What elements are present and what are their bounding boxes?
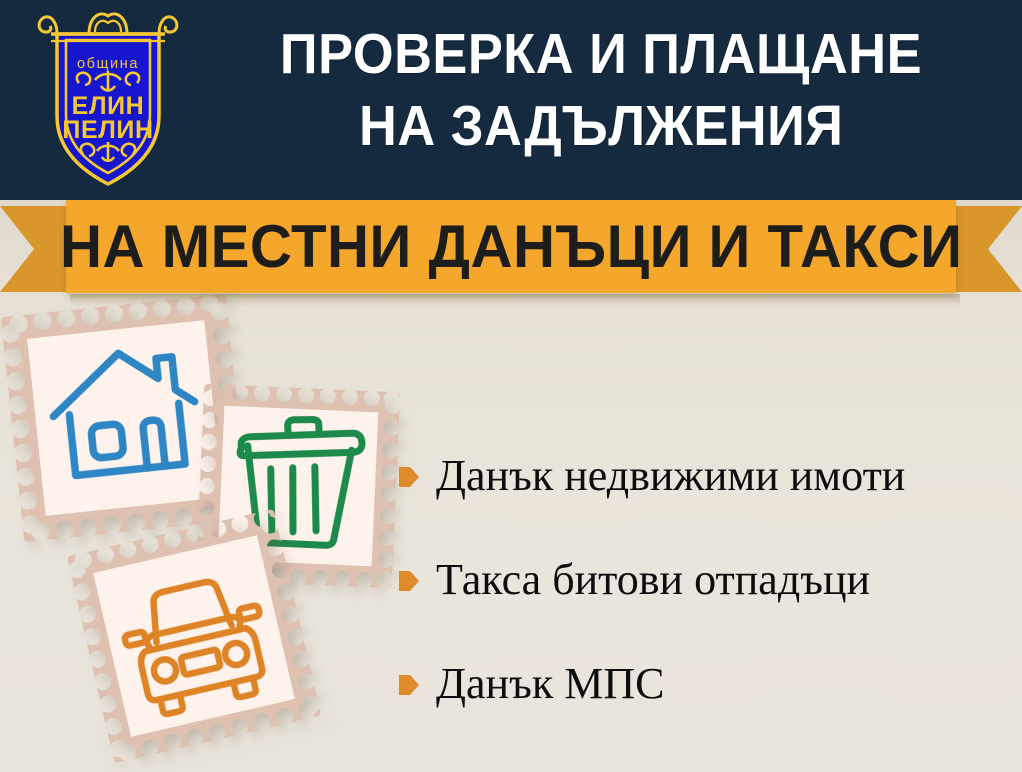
crest-line-small: община [77,56,139,72]
arrow-bullet-icon [398,464,420,490]
page-title-line-2: НА ЗАДЪЛЖЕНИЯ [359,90,843,162]
page-title-line-1: ПРОВЕРКА И ПЛАЩАНЕ [280,18,922,90]
subtitle-ribbon: НА МЕСТНИ ДАНЪЦИ И ТАКСИ [0,198,1022,310]
ribbon-band: НА МЕСТНИ ДАНЪЦИ И ТАКСИ [66,200,956,293]
list-item[interactable]: Данък МПС [398,632,1012,736]
poster-canvas: община ЕЛИН ПЕЛИН ПРОВЕРКА И П [0,0,1022,772]
ribbon-drop-shadow [70,294,960,306]
list-item[interactable]: Данък недвижими имоти [398,424,1012,528]
list-item-label: Данък МПС [436,659,664,709]
list-item-label: Данък недвижими имоти [436,451,905,501]
coat-of-arms-logo: община ЕЛИН ПЕЛИН [33,8,183,190]
list-item[interactable]: Такса битови отпадъци [398,528,1012,632]
arrow-bullet-icon [398,672,420,698]
tax-type-list: Данък недвижими имоти Такса битови отпад… [398,424,1012,736]
page-title: ПРОВЕРКА И ПЛАЩАНЕ НА ЗАДЪЛЖЕНИЯ [190,18,1012,186]
crest-line-two: ПЕЛИН [62,116,153,144]
list-item-label: Такса битови отпадъци [436,555,870,605]
arrow-bullet-icon [398,568,420,594]
stamp-card-group [0,300,420,772]
ribbon-text: НА МЕСТНИ ДАНЪЦИ И ТАКСИ [60,216,963,278]
